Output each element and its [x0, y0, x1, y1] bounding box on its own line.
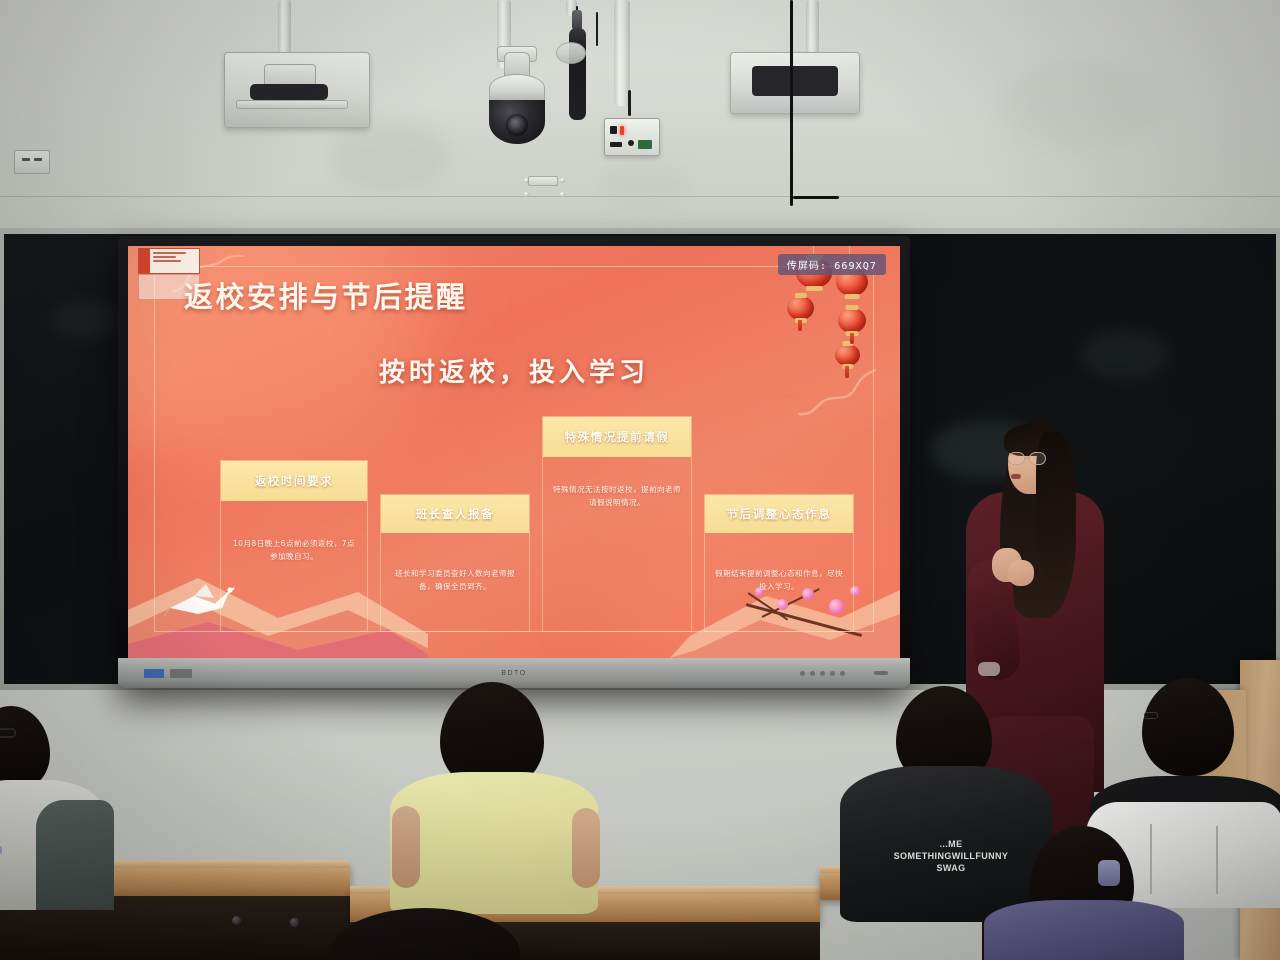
wall-socket — [14, 150, 50, 174]
jacket-print-line-1: ...ME — [876, 838, 1026, 850]
camera-housing — [489, 74, 545, 102]
wall-screw — [560, 192, 565, 197]
bezel-button[interactable] — [810, 671, 815, 676]
wall-cable — [793, 196, 839, 199]
watermark-lines — [150, 249, 199, 273]
bezel-button[interactable] — [840, 671, 845, 676]
teacher-mouth — [1011, 474, 1021, 479]
mount-pipe — [278, 0, 291, 56]
wall-socket — [528, 176, 558, 186]
slide-title: 返校安排与节后提醒 — [184, 282, 468, 314]
slide-watermark-logo — [138, 248, 200, 274]
wall-smudge — [600, 160, 690, 210]
student-bag — [36, 800, 114, 910]
bezel-button[interactable] — [800, 671, 805, 676]
wall-smudge — [330, 120, 450, 190]
mic-cap — [572, 10, 582, 30]
jacket-print-line-2: SOMETHINGWILLFUNNY — [876, 850, 1026, 862]
card-body-text: 10月8日晚上6点前必须返校，7点参加晚自习。 — [230, 537, 358, 563]
hoodie-seam — [1216, 826, 1218, 894]
card-header: 节后调整心态作息 — [705, 495, 853, 533]
classroom-scene: 传屏码: 669XQ7 返校安排与节后提醒 按时返校，投入学习 返校时间要求 1… — [0, 0, 1280, 960]
display-brand-mark: BDTO — [501, 670, 526, 677]
jacket-stripe — [0, 846, 2, 854]
card-heading-text: 返校时间要求 — [255, 473, 334, 489]
hoodie-seam — [1150, 824, 1152, 894]
card-heading-text: 特殊情况提前请假 — [565, 429, 670, 445]
bezel-button[interactable] — [820, 671, 825, 676]
mic-mount — [556, 42, 586, 64]
control-strip — [610, 142, 622, 147]
card-body-text: 假期结束提前调整心态和作息，尽快投入学习。 — [714, 567, 844, 593]
jacket-print-line-3: SWAG — [876, 862, 1026, 874]
card-header: 返校时间要求 — [221, 461, 367, 501]
bezel-button-group[interactable] — [800, 671, 850, 676]
mount-plate — [236, 100, 348, 109]
camera-lens-icon — [506, 114, 528, 136]
teacher-glasses-right — [1029, 452, 1046, 465]
card-body-text: 特殊情况无法按时返校，提前向老师请假说明情况。 — [552, 483, 682, 509]
bezel-button[interactable] — [830, 671, 835, 676]
wall-screw — [524, 192, 529, 197]
bezel-indicator — [874, 671, 888, 675]
slide-card: 返校时间要求 10月8日晚上6点前必须返校，7点参加晚自习。 — [220, 460, 368, 632]
display-bezel: BDTO — [118, 658, 910, 688]
wall-seam — [0, 196, 1280, 197]
teacher-glasses-bridge — [1025, 457, 1030, 459]
control-switch[interactable] — [610, 126, 617, 134]
status-led-icon — [620, 126, 624, 135]
card-header: 班长查人报备 — [381, 495, 529, 533]
bezel-port[interactable] — [144, 669, 164, 678]
card-heading-text: 节后调整心态作息 — [727, 506, 832, 522]
teacher-hand — [1008, 560, 1034, 586]
projector-lens-housing — [250, 84, 328, 100]
student-shirt — [390, 772, 598, 914]
chalk-mark — [50, 300, 120, 340]
desk-bolt — [290, 918, 299, 927]
wall-smudge — [1000, 60, 1160, 150]
slide-card: 班长查人报备 班长和学习委员查好人数向老师报备，确保全员到齐。 — [380, 494, 530, 632]
control-box[interactable] — [604, 118, 660, 156]
power-cable — [628, 90, 631, 116]
slide-card: 节后调整心态作息 假期结束提前调整心态和作息，尽快投入学习。 — [704, 494, 854, 632]
mic-cable — [596, 12, 598, 46]
slide-subtitle: 按时返校，投入学习 — [128, 352, 900, 389]
teacher-cuff — [978, 662, 1000, 676]
wall-screw — [560, 178, 565, 183]
student-glasses — [1144, 712, 1158, 719]
card-header: 特殊情况提前请假 — [543, 417, 691, 457]
wall-cable — [790, 0, 793, 206]
screen-cast-code-badge: 传屏码: 669XQ7 — [778, 254, 886, 275]
speaker-body — [752, 66, 838, 96]
control-chip — [638, 140, 652, 149]
watermark-bar — [139, 249, 150, 273]
socket-slot — [22, 158, 30, 161]
student-arm — [572, 808, 600, 888]
student-arm — [392, 806, 420, 888]
control-knob[interactable] — [628, 140, 634, 146]
card-body-text: 班长和学习委员查好人数向老师报备，确保全员到齐。 — [390, 567, 520, 593]
bezel-port[interactable] — [170, 669, 192, 678]
desk-bolt — [232, 916, 241, 925]
student-glasses — [0, 728, 16, 738]
teacher-glasses-left — [1008, 452, 1025, 465]
student-hood — [984, 900, 1184, 960]
card-heading-text: 班长查人报备 — [416, 506, 495, 522]
slide-card: 特殊情况提前请假 特殊情况无法按时返校，提前向老师请假说明情况。 — [542, 416, 692, 632]
socket-slot — [34, 158, 42, 161]
display-screen[interactable]: 传屏码: 669XQ7 返校安排与节后提醒 按时返校，投入学习 返校时间要求 1… — [128, 246, 900, 658]
mount-pipe — [806, 0, 819, 56]
student-head — [1142, 678, 1234, 776]
chalk-mark — [1080, 330, 1170, 380]
smart-interactive-display[interactable]: 传屏码: 669XQ7 返校安排与节后提醒 按时返校，投入学习 返校时间要求 1… — [118, 236, 910, 688]
hair-clip — [1098, 860, 1120, 886]
